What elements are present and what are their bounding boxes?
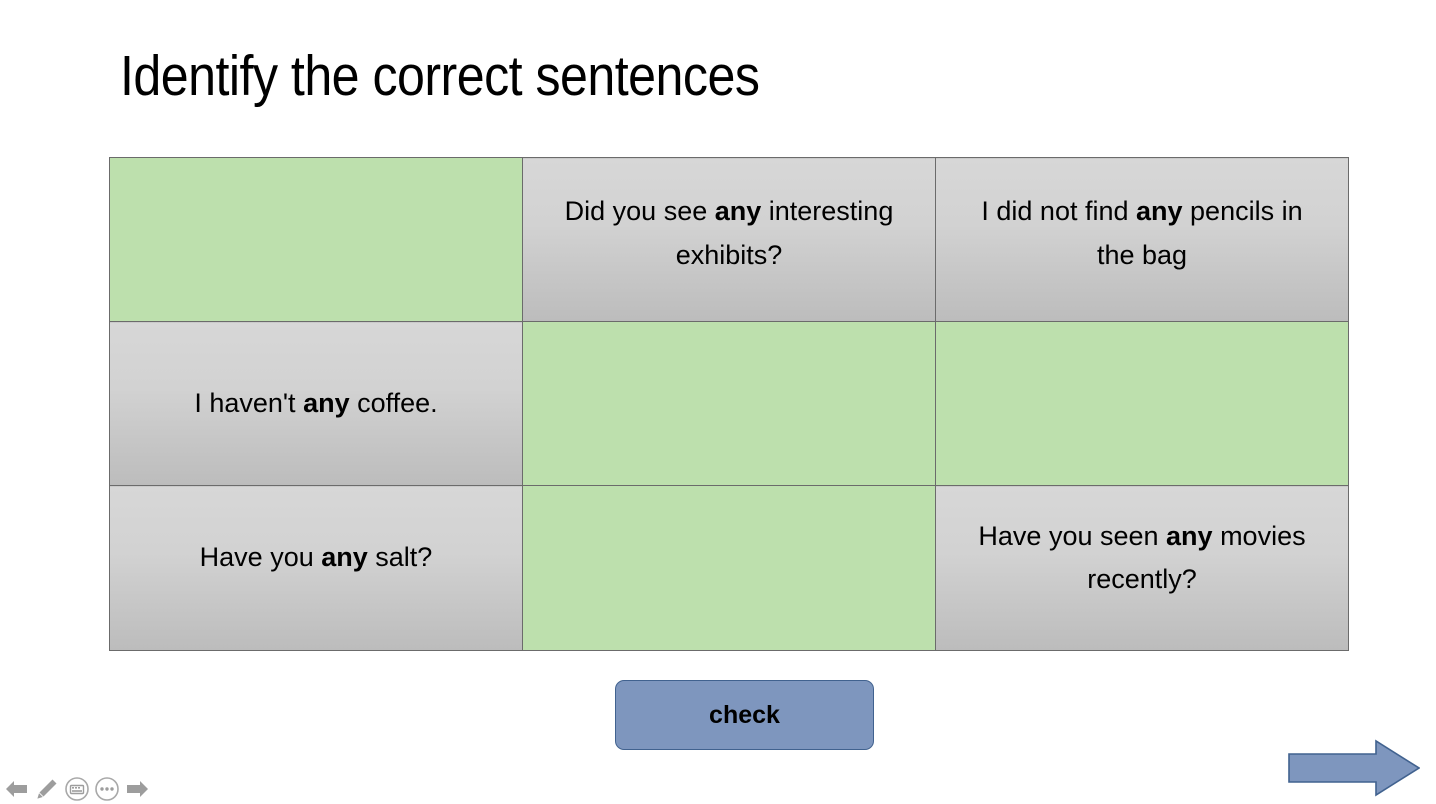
grid-cell-text: Did you see any interesting exhibits? (523, 190, 935, 276)
grid-cell-r1c3[interactable]: I did not find any pencils in the bag (936, 158, 1349, 322)
sentence-grid: Did you see any interesting exhibits? I … (109, 157, 1349, 651)
table-row: I haven't any coffee. (110, 322, 1349, 486)
grid-cell-r1c2[interactable]: Did you see any interesting exhibits? (523, 158, 936, 322)
grid-cell-r3c3[interactable]: Have you seen any movies recently? (936, 486, 1349, 651)
grid-cell-r2c1[interactable]: I haven't any coffee. (110, 322, 523, 486)
next-arrow-button[interactable] (1288, 739, 1420, 797)
grid-cell-r3c1[interactable]: Have you any salt? (110, 486, 523, 651)
forward-arrow-icon[interactable] (124, 776, 150, 802)
keyboard-circle-icon[interactable] (64, 776, 90, 802)
grid-cell-text: I did not find any pencils in the bag (936, 190, 1348, 276)
right-arrow-icon (1288, 739, 1420, 797)
grid-cell-text: I haven't any coffee. (110, 382, 522, 425)
check-button-label: check (709, 701, 780, 730)
back-arrow-icon[interactable] (4, 776, 30, 802)
grid-cell-r2c2[interactable] (523, 322, 936, 486)
more-options-circle-icon[interactable] (94, 776, 120, 802)
grid-cell-r2c3[interactable] (936, 322, 1349, 486)
table-row: Did you see any interesting exhibits? I … (110, 158, 1349, 322)
grid-cell-text: Have you any salt? (110, 536, 522, 579)
grid-cell-r1c1[interactable] (110, 158, 523, 322)
grid-cell-text: Have you seen any movies recently? (936, 515, 1348, 601)
grid-cell-r3c2[interactable] (523, 486, 936, 651)
bottom-toolbar (4, 776, 150, 802)
check-button[interactable]: check (615, 680, 874, 750)
pencil-icon[interactable] (34, 776, 60, 802)
table-row: Have you any salt? Have you seen any mov… (110, 486, 1349, 651)
page-title: Identify the correct sentences (120, 45, 759, 109)
